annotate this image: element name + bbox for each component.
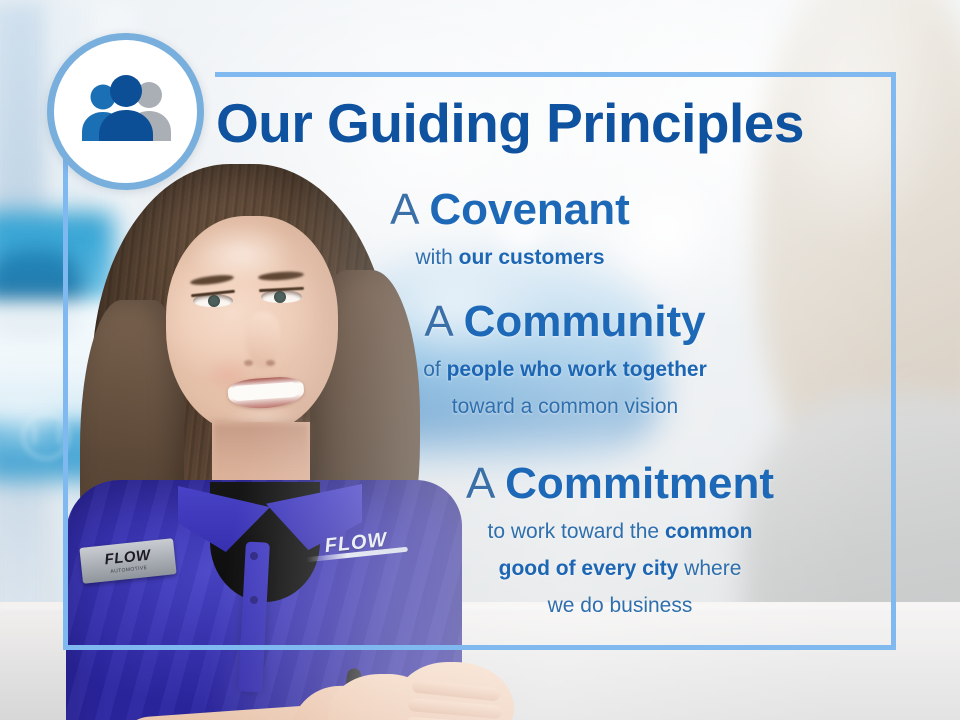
principle-subline: of people who work together	[330, 356, 800, 383]
principle-word: Covenant	[429, 185, 629, 234]
subline-part-bold: our customers	[459, 246, 605, 269]
subline-part: where	[678, 557, 741, 580]
subline-part: we do business	[548, 594, 693, 617]
subline-part: of	[423, 358, 446, 381]
people-group-icon	[77, 73, 175, 151]
principle-subline: we do business	[370, 592, 870, 619]
iris	[274, 291, 286, 303]
principle-block-covenant: A Covenant with our customers	[300, 186, 720, 271]
principle-subline: good of every city where	[370, 555, 870, 582]
subline-part: to work toward the	[488, 520, 665, 543]
subline-part-bold: good of every city	[499, 557, 679, 580]
principle-heading: A Community	[330, 298, 800, 346]
page-title: Our Guiding Principles	[216, 96, 876, 151]
principle-article: A	[424, 297, 451, 346]
principle-word: Community	[464, 297, 706, 346]
principle-heading: A Covenant	[300, 186, 720, 234]
principle-word: Commitment	[505, 459, 774, 508]
principle-subline: to work toward the common	[370, 518, 870, 545]
shirt-button	[250, 596, 258, 604]
principle-block-commitment: A Commitment to work toward the common g…	[370, 460, 870, 619]
subline-part: toward a common vision	[452, 395, 678, 418]
people-badge	[47, 33, 204, 190]
neck-shadow	[212, 422, 310, 478]
subline-part: with	[415, 246, 458, 269]
guiding-principles-banner: FLOW FLOW AUTOMOTIVE	[0, 0, 960, 720]
principle-heading: A Commitment	[370, 460, 870, 508]
principle-subline: with our customers	[300, 244, 720, 271]
principle-subline: toward a common vision	[330, 393, 800, 420]
principle-article: A	[466, 459, 493, 508]
nostril	[266, 360, 275, 366]
eye-right	[261, 290, 302, 303]
shirt-button	[250, 552, 258, 560]
subline-part-bold: people who work together	[447, 358, 707, 381]
iris	[208, 295, 220, 307]
principle-block-community: A Community of people who work together …	[330, 298, 800, 420]
principle-article: A	[390, 185, 417, 234]
subline-part-bold: common	[665, 520, 753, 543]
